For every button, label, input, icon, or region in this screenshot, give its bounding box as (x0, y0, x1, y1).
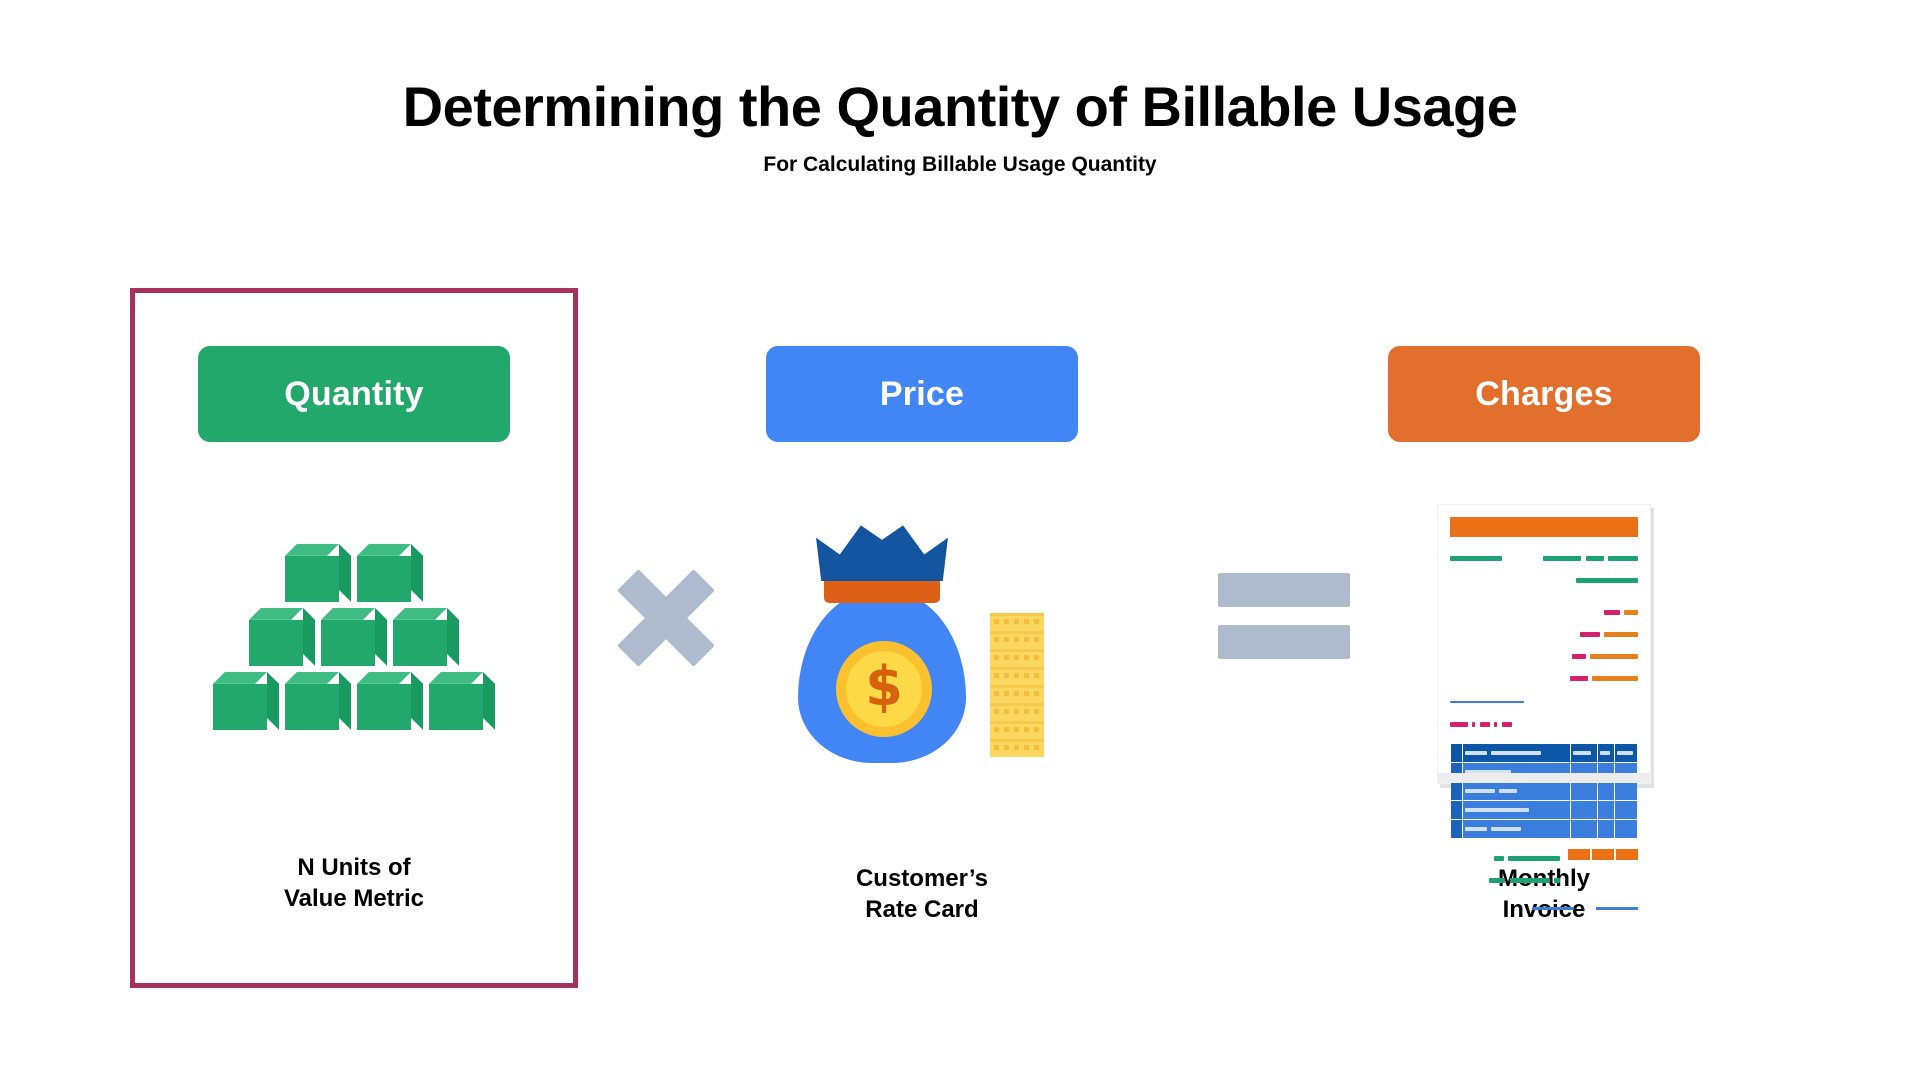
table-row (1451, 820, 1637, 838)
caption-price: Customer’s Rate Card (856, 863, 988, 926)
cube (357, 672, 423, 730)
cube-row-bottom (204, 672, 504, 730)
table-row (1451, 801, 1637, 819)
cube (321, 608, 387, 666)
invoice-meta-block (1450, 603, 1638, 691)
dollar-coin-icon: $ (836, 641, 932, 737)
badge-price-label: Price (880, 375, 964, 414)
cube-pyramid (204, 544, 504, 730)
invoice-number-line (1450, 693, 1638, 711)
invoice-date-line (1450, 715, 1638, 733)
invoice-address-block (1450, 549, 1638, 593)
cube (249, 608, 315, 666)
artwork-quantity-cubes (135, 442, 573, 852)
cube (285, 544, 351, 602)
badge-quantity-label: Quantity (284, 375, 424, 414)
artwork-money-bag: $ (698, 442, 1146, 863)
invoice-header-band (1450, 517, 1638, 537)
table-header-row (1451, 744, 1637, 762)
badge-price[interactable]: Price (766, 346, 1078, 442)
invoice-totals-block (1450, 849, 1638, 893)
artwork-invoice (1320, 442, 1768, 863)
cube (213, 672, 279, 730)
cube (285, 672, 351, 730)
badge-quantity[interactable]: Quantity (198, 346, 510, 442)
badge-charges-label: Charges (1475, 375, 1612, 414)
invoice-amount-chips (1568, 849, 1638, 860)
bag-knot (816, 525, 948, 581)
invoice-line-items-table (1450, 743, 1638, 839)
invoice-document-icon (1437, 504, 1651, 784)
invoice-footer-band (1438, 773, 1650, 783)
panel-charges[interactable]: Charges (1320, 288, 1768, 988)
panel-quantity[interactable]: Quantity N Uni (130, 288, 578, 988)
page-title: Determining the Quantity of Billable Usa… (0, 78, 1920, 137)
dollar-symbol: $ (846, 651, 922, 727)
panel-price[interactable]: Price $ Customer’s Rate Card (698, 288, 1146, 988)
caption-quantity: N Units of Value Metric (284, 852, 424, 915)
money-bag-icon: $ (798, 521, 1046, 771)
page-subtitle: For Calculating Billable Usage Quantity (0, 153, 1920, 177)
badge-charges[interactable]: Charges (1388, 346, 1700, 442)
cube-row-middle (204, 608, 504, 666)
page-header: Determining the Quantity of Billable Usa… (0, 78, 1920, 177)
coin-stack-icon (990, 613, 1044, 765)
invoice-signature-lines (1450, 907, 1638, 910)
cube (357, 544, 423, 602)
table-row (1451, 782, 1637, 800)
cube (429, 672, 495, 730)
cube (393, 608, 459, 666)
billing-formula-row: Quantity N Uni (0, 288, 1920, 988)
cube-row-top (204, 544, 504, 602)
